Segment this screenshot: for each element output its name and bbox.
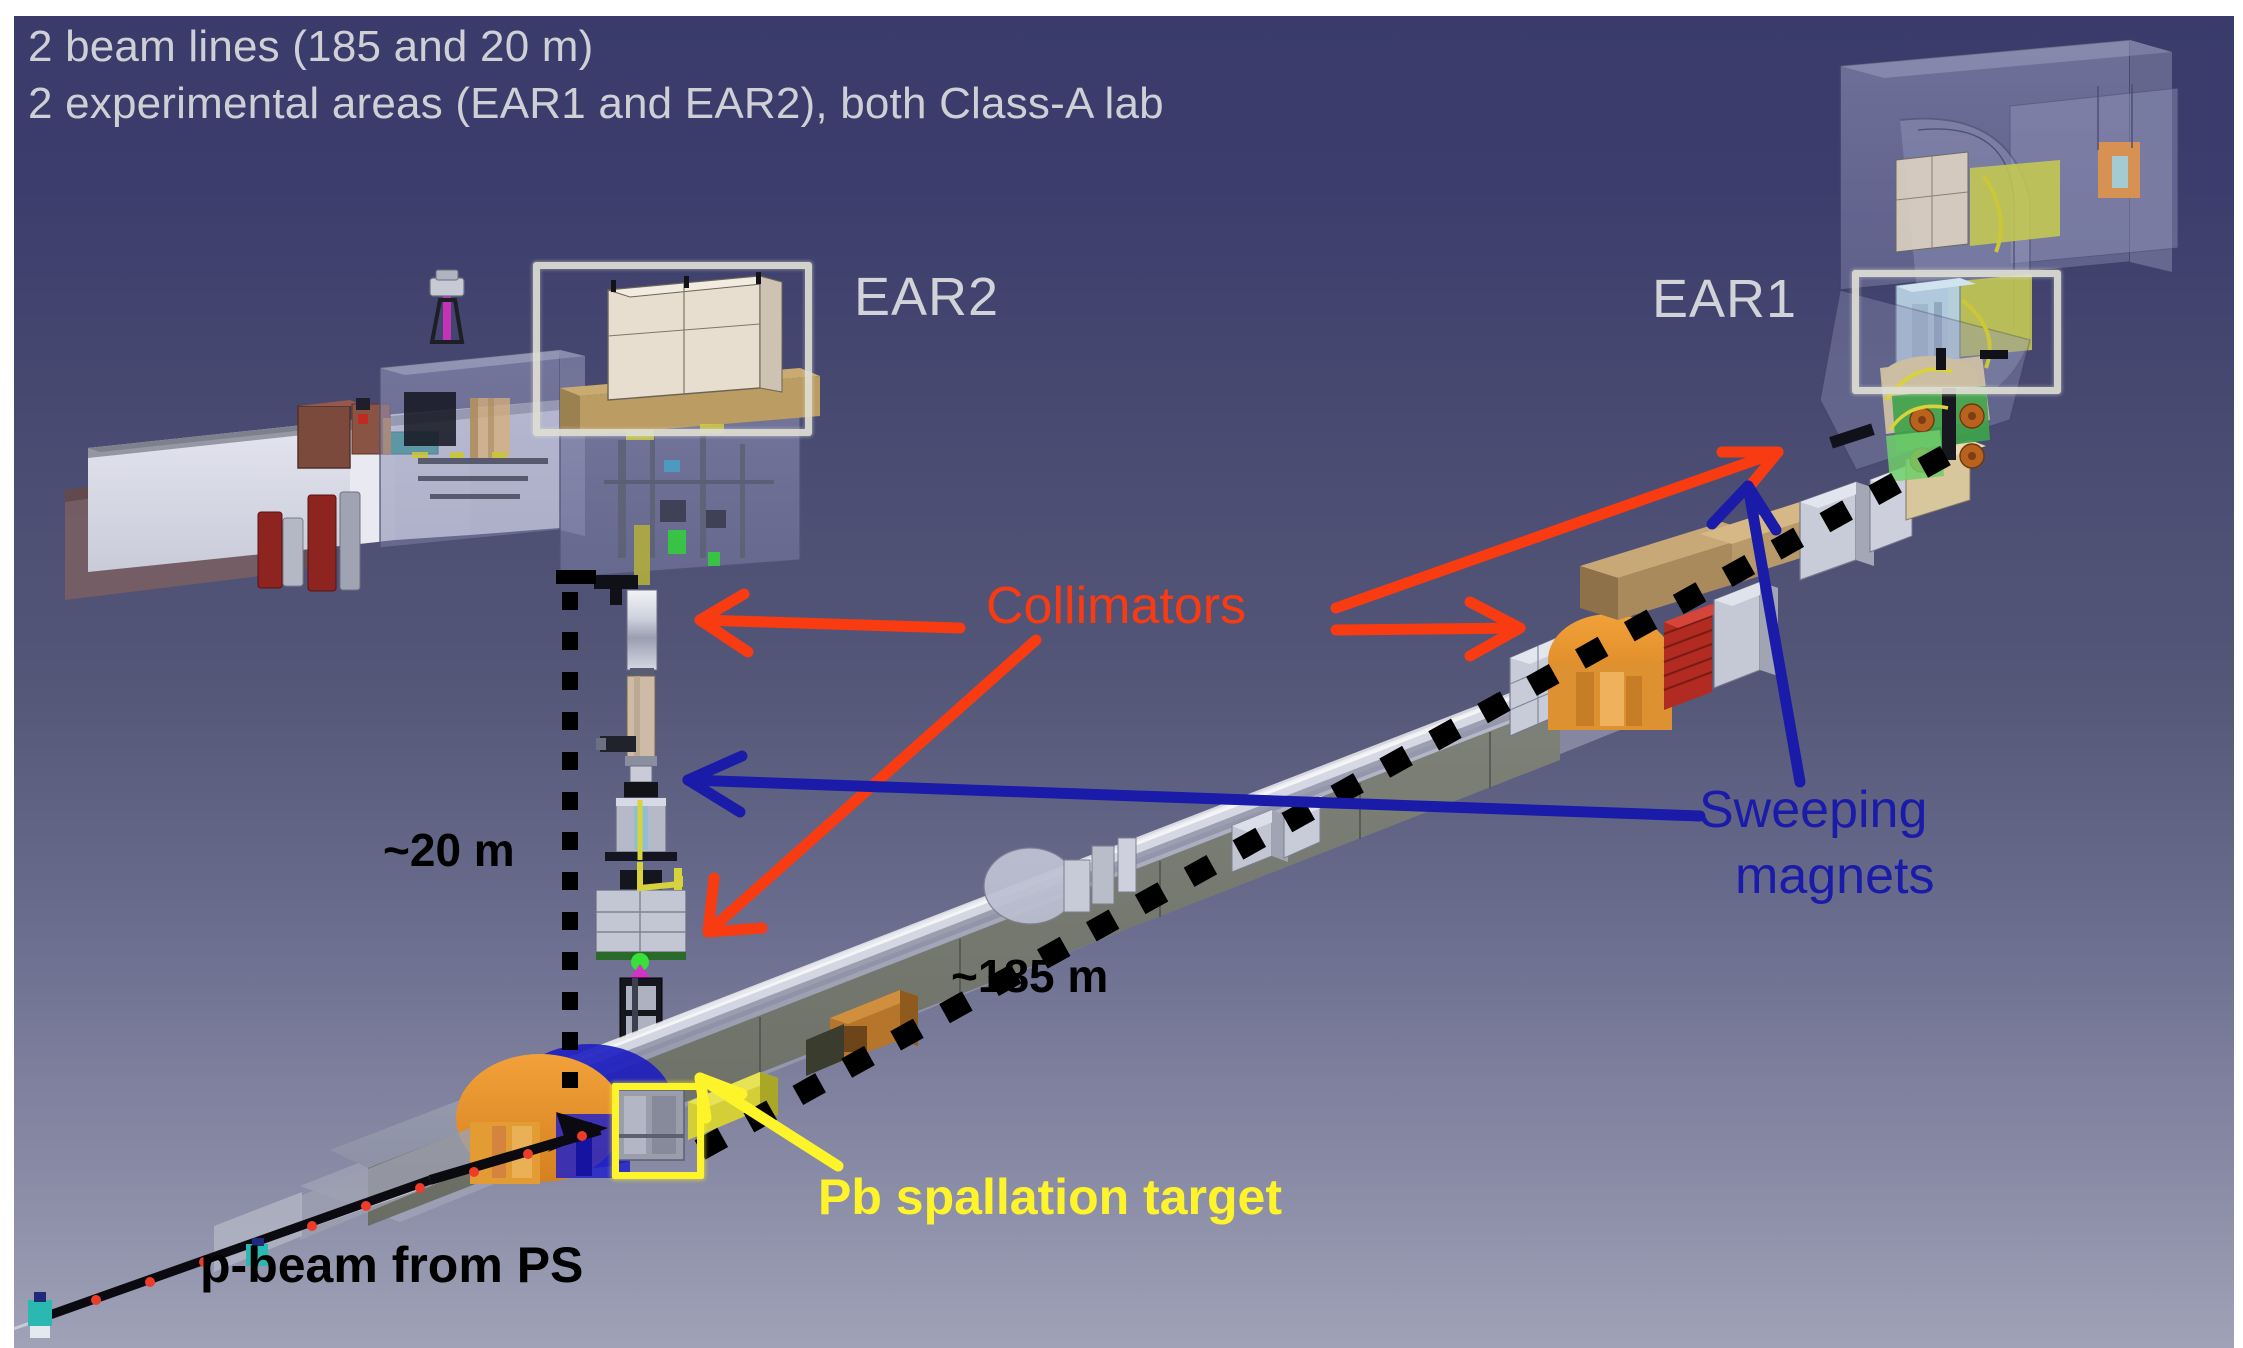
- label-ear1: EAR1: [1652, 268, 1797, 330]
- title-line-2: 2 experimental areas (EAR1 and EAR2), bo…: [28, 75, 1728, 132]
- label-sweeping-magnets-line1: Sweeping: [1699, 780, 1927, 840]
- beam-path-20m: [556, 570, 596, 1088]
- label-collimators: Collimators: [986, 576, 1246, 636]
- label-distance-185m: ~185 m: [951, 949, 1108, 1003]
- label-proton-beam: p-beam from PS: [200, 1236, 583, 1294]
- facility-cad-illustration: [0, 0, 2243, 1348]
- slide-border-right: [2234, 0, 2243, 1348]
- label-sweeping-magnets-line2: magnets: [1735, 846, 1934, 906]
- label-distance-20m: ~20 m: [383, 823, 515, 877]
- slide-title: 2 beam lines (185 and 20 m) 2 experiment…: [28, 18, 1728, 132]
- ear2-building-complex: [65, 270, 585, 600]
- label-ear2: EAR2: [854, 266, 999, 328]
- label-pb-spallation-target: Pb spallation target: [818, 1168, 1282, 1226]
- slide-border-top: [0, 0, 2243, 16]
- ear1-building: [1820, 40, 2178, 482]
- slide-border-left: [0, 0, 14, 1348]
- ear1-highlight-box: [1852, 270, 2061, 394]
- ear2-highlight-box: [533, 262, 812, 436]
- slide-canvas: 2 beam lines (185 and 20 m) 2 experiment…: [0, 0, 2243, 1348]
- pb-target-highlight-box: [612, 1083, 704, 1179]
- title-line-1: 2 beam lines (185 and 20 m): [28, 18, 1728, 75]
